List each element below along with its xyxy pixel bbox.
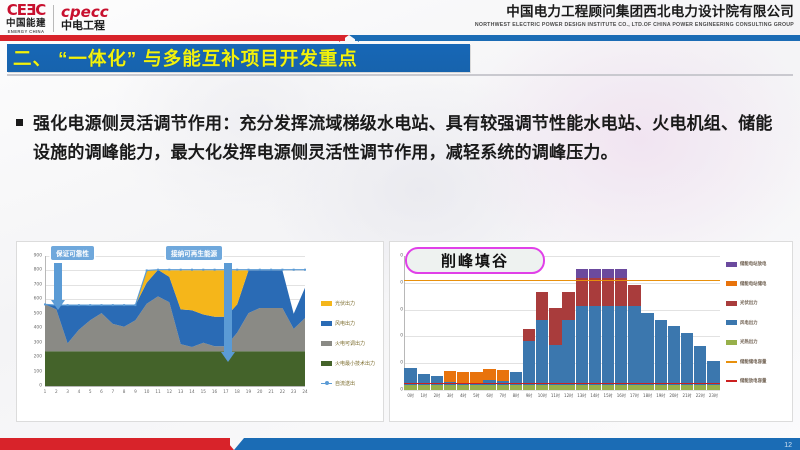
legend-label: 储能放电容量: [740, 378, 766, 384]
x-axis-tick-label: 18时: [641, 393, 654, 399]
x-axis-tick-label: 8时: [509, 393, 522, 399]
x-axis-tick-label: 21时: [681, 393, 694, 399]
logo-divider: [53, 5, 54, 32]
legend-label: 光伏出力: [740, 300, 758, 306]
x-axis-tick-label: 23时: [707, 393, 720, 399]
x-axis-tick-label: 7时: [496, 393, 509, 399]
y-axis-tick-label: 0: [389, 388, 403, 393]
line-marker: [214, 269, 216, 271]
legend-item: 风电出力: [726, 320, 766, 326]
bar-segment: [576, 269, 588, 278]
x-axis-tick-label: 16时: [615, 393, 628, 399]
line-marker: [44, 303, 46, 305]
line-marker: [248, 269, 250, 271]
legend-swatch: [726, 340, 737, 345]
y-axis-tick-label: 0: [389, 280, 403, 285]
x-axis-tick-label: 8: [123, 389, 126, 394]
x-axis-tick-label: 14时: [588, 393, 601, 399]
cpecc-logo-mark: cpecc: [61, 4, 109, 21]
y-axis-tick-label: 0: [389, 361, 403, 366]
line-marker: [202, 269, 204, 271]
bullet-block: 强化电源侧灵活调节作用：充分发挥流域梯级水电站、具有较强调节性能水电站、火电机组…: [16, 110, 786, 168]
legend-item: 光伏出力: [321, 300, 375, 307]
bar-segment: [641, 313, 653, 385]
bar-segment: [536, 292, 548, 320]
x-axis-tick-label: 11时: [549, 393, 562, 399]
bar-segment: [549, 308, 561, 344]
energy-china-logo-mark: CEƎC: [7, 3, 46, 18]
legend-swatch: [321, 383, 332, 385]
bar-segment: [707, 385, 719, 390]
line-marker: [281, 269, 283, 271]
x-axis-tick-label: 9: [134, 389, 137, 394]
x-axis-tick-label: 10时: [536, 393, 549, 399]
bar-segment: [431, 385, 443, 390]
legend-label: 储能电站放电: [740, 261, 766, 267]
bar-segment: [444, 371, 456, 382]
bar-segment: [497, 370, 509, 381]
line-marker: [259, 269, 261, 271]
bar-segment: [589, 306, 601, 385]
energy-china-logo: CEƎC 中国能建 ENERGY CHINA: [6, 3, 46, 34]
x-axis-tick-label: 6: [100, 389, 103, 394]
x-axis-tick-label: 20时: [667, 393, 680, 399]
bar-segment: [418, 385, 430, 390]
grid-line: [404, 283, 720, 284]
bar-segment: [602, 306, 614, 385]
bar-segment: [549, 385, 561, 390]
x-axis-tick-label: 21: [268, 389, 273, 394]
reference-line: [404, 383, 720, 384]
line-marker: [134, 304, 136, 306]
chart-right-legend: 储能电站放电 储能电站储电 光伏出力 风电出力 光热出力: [726, 261, 766, 398]
bar-segment: [576, 278, 588, 306]
line-marker: [112, 304, 114, 306]
legend-item: 储能放电容量: [726, 378, 766, 384]
legend-swatch: [321, 321, 332, 326]
line-marker: [304, 269, 306, 271]
arrow-head: [221, 352, 235, 362]
legend-label: 风电出力: [335, 320, 355, 327]
bar-segment: [523, 385, 535, 390]
x-axis-tick-label: 23: [291, 389, 296, 394]
bar-segment: [523, 329, 535, 341]
x-axis-tick-label: 15: [201, 389, 206, 394]
x-axis-tick-label: 19: [246, 389, 251, 394]
chart-left-legend: 光伏出力 风电出力 火电可调出力 火电最小技术出力: [321, 300, 375, 400]
x-axis-tick-label: 20: [257, 389, 262, 394]
bar-segment: [444, 385, 456, 390]
legend-label: 储能储电容量: [740, 359, 766, 365]
legend-item: 储能储电容量: [726, 359, 766, 365]
legend-swatch: [321, 341, 332, 346]
bar-segment: [694, 346, 706, 384]
legend-label: 储能电站储电: [740, 281, 766, 287]
legend-swatch: [726, 320, 737, 325]
line-marker: [180, 269, 182, 271]
footer-bar-red: [0, 438, 230, 450]
header-bar-red: [0, 35, 345, 41]
line-marker: [191, 269, 193, 271]
bar-segment: [483, 385, 495, 390]
bar-segment: [470, 372, 482, 383]
legend-label: 火电最小技术出力: [335, 360, 375, 367]
bullet-square-icon: [16, 119, 23, 126]
bar-segment: [655, 385, 667, 390]
x-axis-tick-label: 0时: [404, 393, 417, 399]
x-axis-tick-label: 10: [144, 389, 149, 394]
arrow-shaft: [224, 263, 232, 352]
x-axis-tick-label: 7: [111, 389, 114, 394]
bar-segment: [615, 269, 627, 278]
legend-label: 自流送出: [335, 380, 355, 387]
arrow-head: [51, 300, 65, 310]
bar-segment: [602, 278, 614, 306]
bar-segment: [628, 285, 640, 306]
x-axis-tick-label: 16: [212, 389, 217, 394]
bar-segment: [549, 345, 561, 385]
bar-segment: [655, 320, 667, 385]
bar-segment: [483, 369, 495, 380]
x-axis-tick-label: 11: [155, 389, 160, 394]
legend-label: 光热出力: [740, 339, 758, 345]
reference-line: [404, 280, 720, 281]
header-bar-blue: [355, 35, 800, 41]
x-axis-tick-label: 24: [302, 389, 307, 394]
chart-right-title-box: 削峰填谷: [405, 247, 545, 274]
x-axis-tick-label: 17: [223, 389, 228, 394]
cpecc-logo: cpecc 中电工程: [61, 4, 109, 34]
legend-item: 自流送出: [321, 380, 375, 387]
bar-segment: [523, 341, 535, 385]
bar-segment: [628, 306, 640, 385]
x-axis-tick-label: 15时: [602, 393, 615, 399]
x-axis-tick-label: 12: [167, 389, 172, 394]
footer-bar-blue: [244, 438, 800, 450]
legend-item: 光热出力: [726, 339, 766, 345]
bar-segment: [602, 385, 614, 390]
legend-item: 火电最小技术出力: [321, 360, 375, 367]
bar-segment: [404, 385, 416, 390]
company-logos: CEƎC 中国能建 ENERGY CHINA cpecc 中电工程: [6, 3, 109, 34]
cpecc-logo-cn: 中电工程: [61, 20, 109, 33]
bar-segment: [457, 372, 469, 383]
bar-segment: [668, 326, 680, 384]
legend-item: 储能电站放电: [726, 261, 766, 267]
line-marker: [123, 304, 125, 306]
y-axis-tick-label: 0: [389, 307, 403, 312]
bar-segment: [681, 385, 693, 390]
bar-segment: [694, 385, 706, 390]
legend-swatch: [726, 281, 737, 286]
x-axis-tick-label: 4: [78, 389, 81, 394]
slide-header: CEƎC 中国能建 ENERGY CHINA cpecc 中电工程 中国电力工程…: [0, 0, 800, 40]
header-accent-bar: [0, 35, 800, 41]
line-marker: [157, 269, 159, 271]
x-axis-tick-label: 1时: [417, 393, 430, 399]
legend-label: 风电出力: [740, 320, 758, 326]
x-axis-tick-label: 1: [44, 389, 47, 394]
legend-item: 风电出力: [321, 320, 375, 327]
area-series: [45, 351, 305, 386]
line-marker: [67, 304, 69, 306]
chart-right-peak-shaving: 削峰填谷 0000000时1时2时3时4时5时6时7时8时9时10时11时12时…: [389, 241, 793, 422]
x-axis-tick-label: 2时: [430, 393, 443, 399]
bar-segment: [681, 333, 693, 385]
line-marker: [270, 269, 272, 271]
x-axis-tick-label: 12时: [562, 393, 575, 399]
bar-segment: [589, 278, 601, 306]
bar-segment: [641, 385, 653, 390]
x-axis-tick-label: 2: [55, 389, 58, 394]
legend-label: 火电可调出力: [335, 340, 365, 347]
organization-name-cn: 中国电力工程顾问集团西北电力设计院有限公司: [475, 4, 794, 21]
line-marker: [89, 304, 91, 306]
bar-segment: [562, 320, 574, 385]
bar-segment: [589, 385, 601, 390]
legend-marker: [325, 381, 329, 385]
section-title-band: 二、 “一体化” 与多能互补项目开发重点: [7, 44, 470, 72]
slide-footer: [0, 438, 800, 450]
bullet-text: 强化电源侧灵活调节作用：充分发挥流域梯级水电站、具有较强调节性能水电站、火电机组…: [33, 110, 786, 168]
x-axis-tick-label: 9时: [523, 393, 536, 399]
organization-name-block: 中国电力工程顾问集团西北电力设计院有限公司 NORTHWEST ELECTRIC…: [475, 4, 794, 28]
arrow-shaft: [54, 263, 62, 300]
bar-segment: [707, 361, 719, 385]
x-axis-tick-label: 3: [66, 389, 69, 394]
bar-segment: [615, 278, 627, 306]
line-marker: [78, 304, 80, 306]
bar-segment: [457, 385, 469, 390]
chart-left-callout: 接纳可再生能源: [165, 245, 223, 261]
bar-segment: [576, 385, 588, 390]
x-axis-tick-label: 5: [89, 389, 92, 394]
bar-segment: [615, 306, 627, 385]
grid-line: [404, 390, 720, 391]
legend-swatch: [726, 361, 737, 363]
bar-segment: [510, 385, 522, 390]
bar-segment: [602, 269, 614, 278]
bar-segment: [536, 385, 548, 390]
legend-swatch: [726, 301, 737, 306]
legend-label: 光伏出力: [335, 300, 355, 307]
line-marker: [101, 304, 103, 306]
bar-segment: [576, 306, 588, 385]
y-axis-tick-label: 0: [389, 334, 403, 339]
line-marker: [236, 269, 238, 271]
x-axis-tick-label: 14: [189, 389, 194, 394]
line-marker: [293, 269, 295, 271]
bar-segment: [536, 320, 548, 385]
footer-bar-notch: [224, 438, 244, 450]
x-axis-tick-label: 6时: [483, 393, 496, 399]
x-axis-tick-label: 4时: [457, 393, 470, 399]
energy-china-logo-cn: 中国能建: [6, 18, 46, 29]
line-marker: [168, 269, 170, 271]
x-axis-tick-label: 3时: [444, 393, 457, 399]
legend-item: 火电可调出力: [321, 340, 375, 347]
x-axis-tick-label: 13: [178, 389, 183, 394]
chart-left-callout: 保证可靠性: [50, 245, 95, 261]
bar-segment: [668, 385, 680, 390]
x-axis-tick-label: 22时: [694, 393, 707, 399]
bar-segment: [628, 385, 640, 390]
chart-right-title-text: 削峰填谷: [441, 250, 509, 271]
bar-segment: [497, 385, 509, 390]
legend-item: 光伏出力: [726, 300, 766, 306]
chart-left-renewable-dispatch: 0100200300400500600700800900123456789101…: [16, 241, 384, 422]
legend-swatch: [321, 301, 332, 306]
page-number: 12: [784, 442, 792, 449]
section-title-text: 二、 “一体化” 与多能互补项目开发重点: [13, 45, 358, 71]
legend-item: 储能电站储电: [726, 281, 766, 287]
x-axis-tick-label: 22: [280, 389, 285, 394]
bar-segment: [470, 385, 482, 390]
organization-name-en: NORTHWEST ELECTRIC POWER DESIGN INSTITUT…: [475, 22, 794, 28]
x-axis-tick-label: 13时: [575, 393, 588, 399]
x-axis-tick-label: 18: [235, 389, 240, 394]
title-underline: [7, 74, 793, 76]
bar-segment: [562, 292, 574, 320]
legend-swatch: [321, 361, 332, 366]
legend-swatch: [726, 380, 737, 382]
bar-segment: [615, 385, 627, 390]
x-axis-tick-label: 5时: [470, 393, 483, 399]
x-axis-tick-label: 17时: [628, 393, 641, 399]
y-axis-tick-label: 0: [389, 254, 403, 259]
energy-china-logo-en: ENERGY CHINA: [8, 29, 45, 34]
x-axis-tick-label: 19时: [654, 393, 667, 399]
bar-segment: [589, 269, 601, 278]
bar-segment: [562, 385, 574, 390]
line-marker: [146, 269, 148, 271]
legend-swatch: [726, 262, 737, 267]
